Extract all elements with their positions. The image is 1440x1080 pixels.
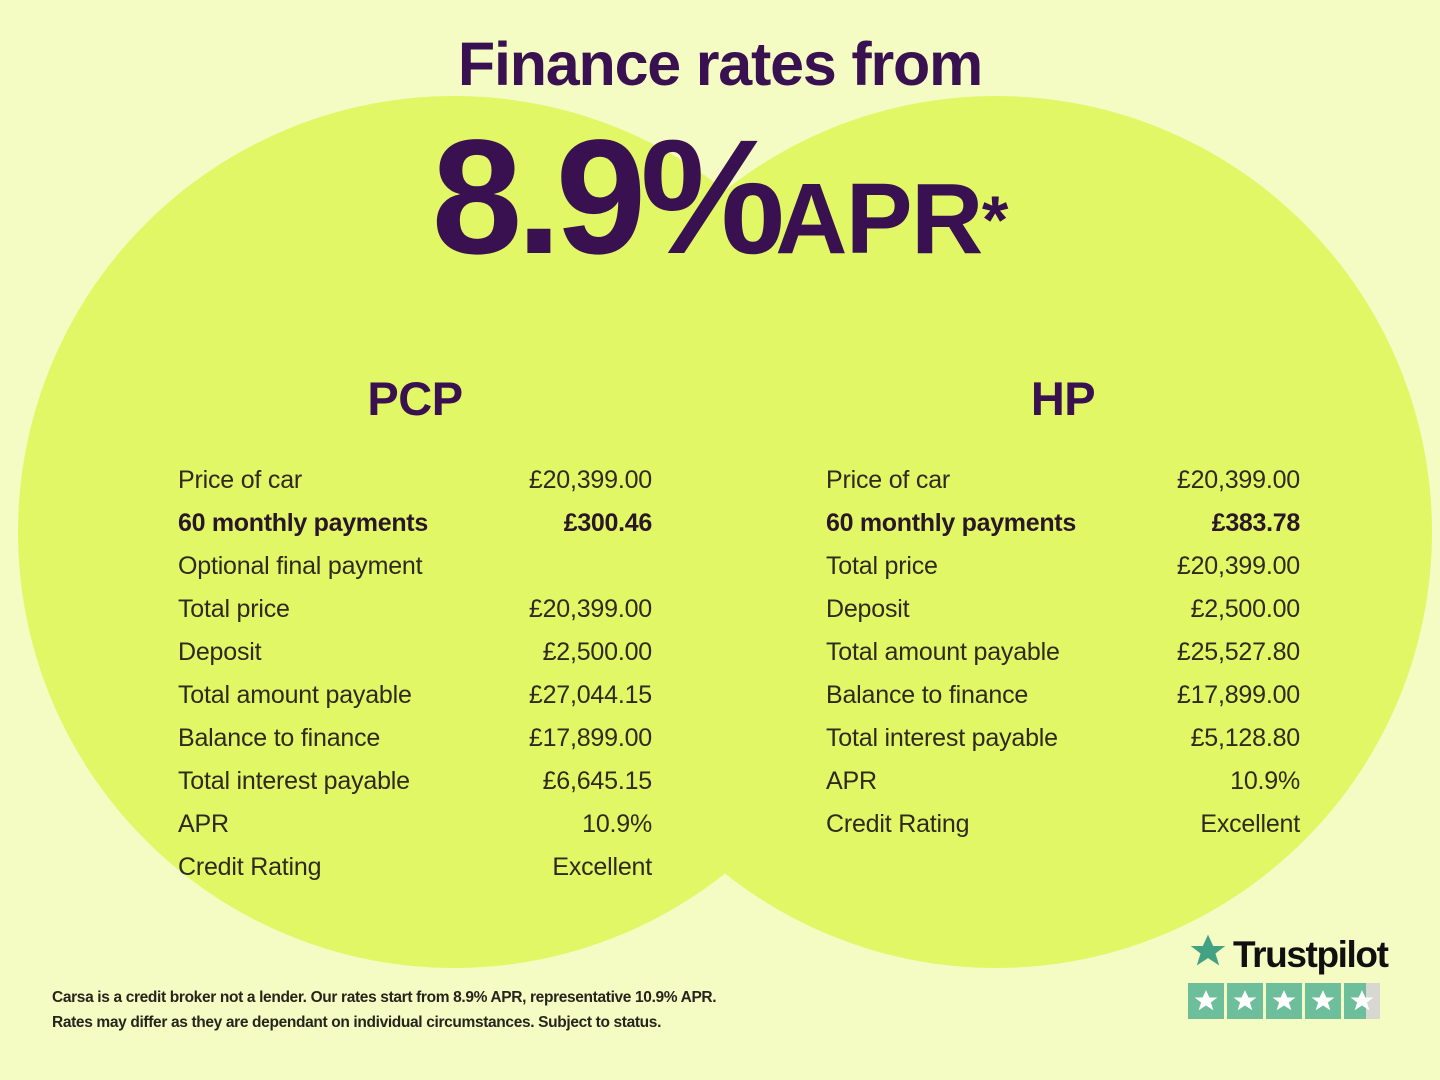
star-icon: [1193, 988, 1220, 1014]
trustpilot-star-box: [1305, 983, 1341, 1019]
headline-block: Finance rates from 8.9% APR *: [0, 34, 1440, 278]
table-row: APR10.9%: [826, 767, 1300, 810]
row-value: £25,527.80: [1177, 638, 1300, 667]
row-value: £5,128.80: [1191, 724, 1300, 753]
row-value: £300.46: [564, 509, 652, 538]
disclaimer-line-1: Carsa is a credit broker not a lender. O…: [52, 985, 812, 1010]
plan-title-pcp: PCP: [178, 375, 652, 422]
disclaimer-text: Carsa is a credit broker not a lender. O…: [52, 985, 812, 1035]
row-value: £20,399.00: [529, 595, 652, 624]
row-value: £2,500.00: [543, 638, 652, 667]
apr-headline: 8.9% APR *: [0, 115, 1440, 278]
table-row: Deposit£2,500.00: [178, 638, 652, 681]
row-label: Price of car: [178, 466, 302, 495]
table-row: 60 monthly payments£300.46: [178, 509, 652, 552]
row-label: Deposit: [826, 595, 909, 624]
trustpilot-rating-stars: [1188, 983, 1394, 1019]
table-row: 60 monthly payments£383.78: [826, 509, 1300, 552]
apr-asterisk: *: [982, 186, 1008, 254]
trustpilot-badge[interactable]: Trustpilot: [1188, 931, 1394, 1019]
plan-rows-hp: Price of car£20,399.0060 monthly payment…: [826, 466, 1300, 853]
row-label: APR: [178, 810, 229, 839]
row-value: £20,399.00: [1177, 466, 1300, 495]
plan-rows-pcp: Price of car£20,399.0060 monthly payment…: [178, 466, 652, 896]
table-row: APR10.9%: [178, 810, 652, 853]
row-label: Total price: [178, 595, 290, 624]
row-label: Total interest payable: [178, 767, 410, 796]
table-row: Total price£20,399.00: [178, 595, 652, 638]
row-label: Deposit: [178, 638, 261, 667]
trustpilot-star-box: [1227, 983, 1263, 1019]
row-label: APR: [826, 767, 877, 796]
page-title: Finance rates from: [0, 34, 1440, 95]
row-value: 10.9%: [1230, 767, 1300, 796]
row-label: Balance to finance: [178, 724, 380, 753]
row-label: Total amount payable: [178, 681, 412, 710]
row-value: £20,399.00: [529, 466, 652, 495]
table-row: Price of car£20,399.00: [178, 466, 652, 509]
row-value: £17,899.00: [1177, 681, 1300, 710]
row-label: Price of car: [826, 466, 950, 495]
disclaimer-line-2: Rates may differ as they are dependant o…: [52, 1010, 812, 1035]
table-row: Price of car£20,399.00: [826, 466, 1300, 509]
row-value: 10.9%: [582, 810, 652, 839]
row-label: Total price: [826, 552, 938, 581]
table-row: Balance to finance£17,899.00: [178, 724, 652, 767]
row-label: Total amount payable: [826, 638, 1060, 667]
star-icon: [1232, 988, 1259, 1014]
row-label: Optional final payment: [178, 552, 422, 581]
row-value: £27,044.15: [529, 681, 652, 710]
trustpilot-star-box: [1266, 983, 1302, 1019]
row-value: £383.78: [1212, 509, 1300, 538]
table-row: Total amount payable£27,044.15: [178, 681, 652, 724]
finance-rates-graphic: Finance rates from 8.9% APR * PCP Price …: [0, 0, 1440, 1080]
star-icon: [1271, 988, 1298, 1014]
row-value: £6,645.15: [543, 767, 652, 796]
table-row: Optional final payment: [178, 552, 652, 595]
table-row: Total interest payable£6,645.15: [178, 767, 652, 810]
apr-rate-value: 8.9%: [432, 115, 780, 278]
trustpilot-wordmark: Trustpilot: [1233, 936, 1388, 973]
table-row: Credit RatingExcellent: [178, 853, 652, 896]
table-row: Balance to finance£17,899.00: [826, 681, 1300, 724]
table-row: Total amount payable£25,527.80: [826, 638, 1300, 681]
table-row: Total price£20,399.00: [826, 552, 1300, 595]
table-row: Deposit£2,500.00: [826, 595, 1300, 638]
row-label: 60 monthly payments: [178, 509, 428, 538]
row-label: Total interest payable: [826, 724, 1058, 753]
trustpilot-star-icon: [1188, 932, 1228, 976]
row-label: Balance to finance: [826, 681, 1028, 710]
trustpilot-star-box: [1188, 983, 1224, 1019]
plan-column-hp: HP Price of car£20,399.0060 monthly paym…: [826, 375, 1300, 853]
plan-column-pcp: PCP Price of car£20,399.0060 monthly pay…: [178, 375, 652, 896]
row-label: Credit Rating: [826, 810, 969, 839]
row-value: £20,399.00: [1177, 552, 1300, 581]
trustpilot-brand: Trustpilot: [1188, 931, 1394, 977]
row-value: Excellent: [552, 853, 652, 882]
star-icon: [1349, 988, 1376, 1014]
table-row: Credit RatingExcellent: [826, 810, 1300, 853]
row-label: Credit Rating: [178, 853, 321, 882]
apr-label: APR: [775, 169, 982, 269]
row-value: £17,899.00: [529, 724, 652, 753]
star-icon: [1310, 988, 1337, 1014]
row-label: 60 monthly payments: [826, 509, 1076, 538]
plan-title-hp: HP: [826, 375, 1300, 422]
row-value: Excellent: [1200, 810, 1300, 839]
trustpilot-star-box: [1344, 983, 1380, 1019]
table-row: Total interest payable£5,128.80: [826, 724, 1300, 767]
row-value: £2,500.00: [1191, 595, 1300, 624]
